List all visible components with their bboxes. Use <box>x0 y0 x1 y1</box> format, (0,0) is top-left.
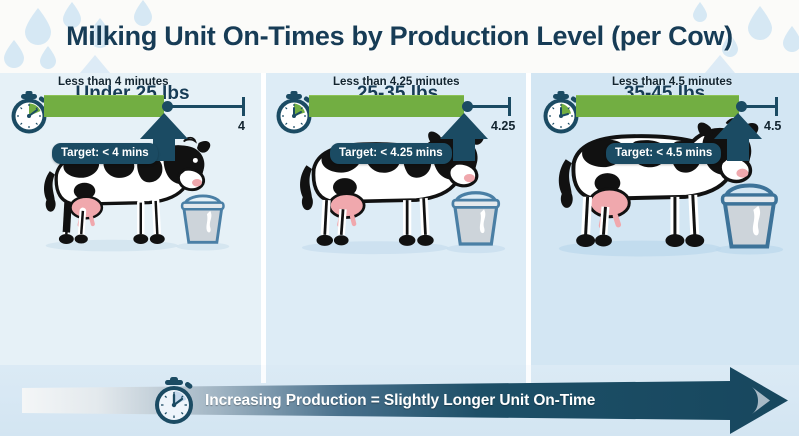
infographic-root: Milking Unit On-Times by Production Leve… <box>0 0 799 436</box>
bar-end-tick-1 <box>242 97 245 116</box>
bar-marker-1[interactable] <box>162 101 173 112</box>
gauge-label-2: Less than 4.25 minutes <box>333 76 460 88</box>
panel-25-35-lbs: 25-35 lbs <box>265 73 530 365</box>
bar-end-tick-2 <box>508 97 511 116</box>
bar-marker-2[interactable] <box>462 101 473 112</box>
bar-end-value-1: 4 <box>238 119 245 133</box>
bar-end-value-3: 4.5 <box>764 119 781 133</box>
bar-end-tick-3 <box>775 97 778 116</box>
target-callout-1[interactable]: Target: < 4 mins <box>52 143 158 164</box>
bar-end-value-2: 4.25 <box>491 119 515 133</box>
cow-illustration-2 <box>265 121 530 259</box>
footer-banner: Increasing Production = Slightly Longer … <box>0 365 799 436</box>
target-callout-3[interactable]: Target: < 4.5 mins <box>606 143 721 164</box>
bar-track-1 <box>164 105 244 108</box>
panel-35-45-lbs: 35-45 lbs <box>530 73 799 365</box>
panel-divider-2 <box>526 73 531 365</box>
gauge-label-3: Less than 4.5 minutes <box>612 76 732 88</box>
bar-marker-3[interactable] <box>736 101 747 112</box>
milk-bucket-icon <box>722 186 776 247</box>
milk-bucket-icon <box>182 196 223 242</box>
panels-container: Under 25 lbs <box>0 73 799 365</box>
milk-bucket-icon <box>452 193 498 244</box>
footer-message: Increasing Production = Slightly Longer … <box>205 365 595 436</box>
panel-under-25-lbs: Under 25 lbs <box>0 73 265 365</box>
page-title: Milking Unit On-Times by Production Leve… <box>0 0 799 73</box>
stopwatch-icon[interactable] <box>148 377 202 427</box>
gauge-label-1: Less than 4 minutes <box>58 76 169 88</box>
header: Milking Unit On-Times by Production Leve… <box>0 0 799 73</box>
panel-divider-1 <box>261 73 266 365</box>
target-callout-2[interactable]: Target: < 4.25 mins <box>330 143 452 164</box>
